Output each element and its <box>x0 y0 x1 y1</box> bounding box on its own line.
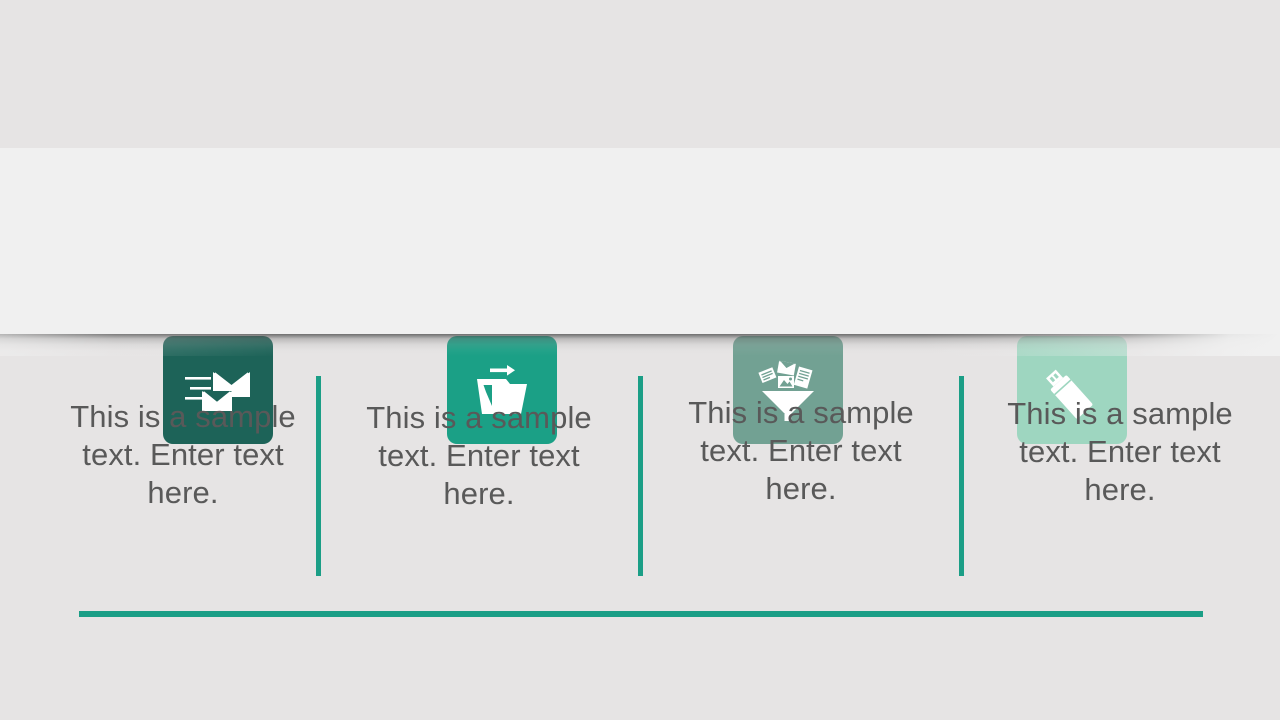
slide-canvas: This is a sample text. Enter text here. … <box>0 0 1280 720</box>
icon-band <box>0 148 1280 334</box>
text-column-2[interactable]: This is a sample text. Enter text here. <box>350 370 608 513</box>
text-column-1[interactable]: This is a sample text. Enter text here. <box>54 370 312 512</box>
text-row: This is a sample text. Enter text here. … <box>0 370 1280 585</box>
column-divider-1 <box>316 376 321 576</box>
text-column-3[interactable]: This is a sample text. Enter text here. <box>672 370 930 508</box>
column-divider-3 <box>959 376 964 576</box>
column-divider-2 <box>638 376 643 576</box>
bottom-accent-rule <box>79 611 1203 617</box>
text-column-4[interactable]: This is a sample text. Enter text here. <box>991 370 1249 509</box>
